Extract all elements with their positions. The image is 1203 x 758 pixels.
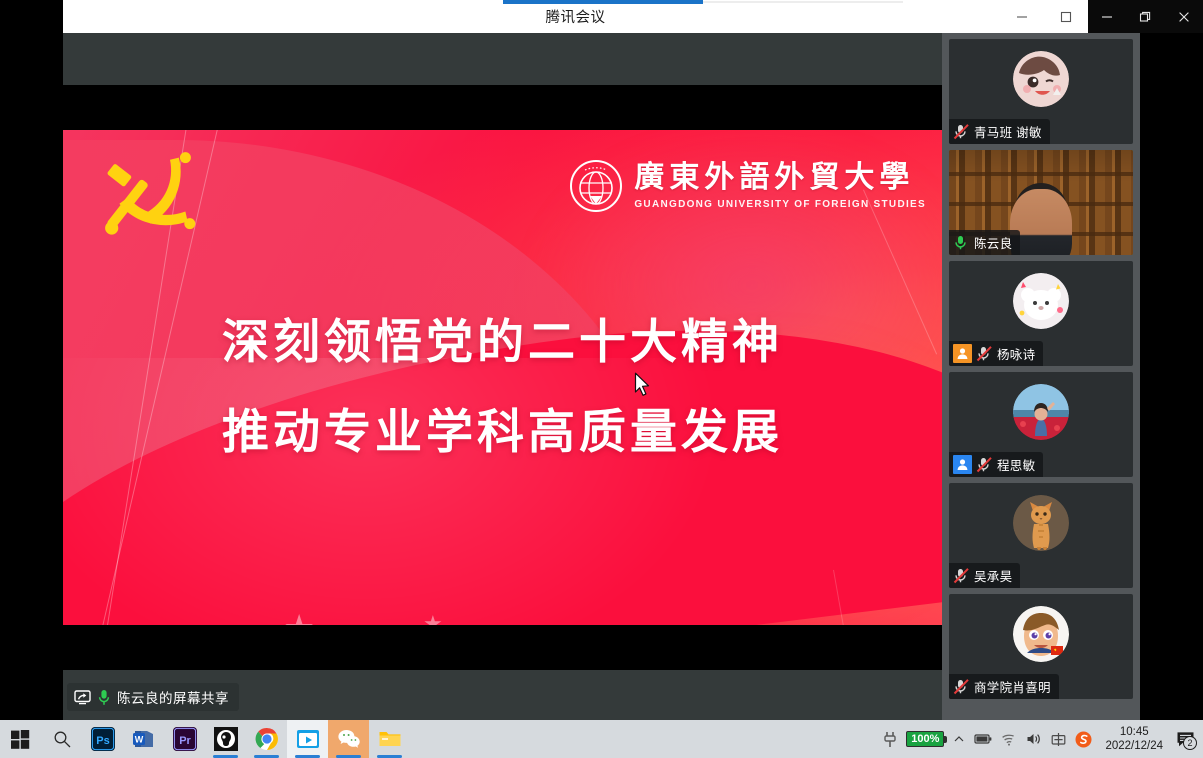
app-button[interactable] <box>205 720 246 758</box>
outer-minimize-button[interactable] <box>1091 6 1123 28</box>
clock[interactable]: 10:45 2022/12/24 <box>1101 725 1167 753</box>
slide-title: 深刻领悟党的二十大精神 推动专业学科高质量发展 <box>63 298 942 478</box>
wechat-icon <box>337 727 361 751</box>
participant-namebar: 杨咏诗 <box>949 341 1043 366</box>
outer-close-button[interactable] <box>1168 6 1200 28</box>
participant-name: 青马班 谢敏 <box>974 122 1042 141</box>
plug-icon[interactable] <box>883 731 897 748</box>
participant-tile[interactable]: 商学院肖喜明 <box>949 594 1133 699</box>
mouse-cursor <box>634 372 652 403</box>
host-badge <box>953 344 972 363</box>
app-title-bar[interactable]: 腾讯会议 <box>63 0 1088 33</box>
desktop-root: 腾讯会议 <box>0 0 1203 758</box>
inner-maximize-button[interactable] <box>1044 0 1088 33</box>
participant-name: 杨咏诗 <box>997 344 1035 363</box>
university-name-en: GUANGDONG UNIVERSITY OF FOREIGN STUDIES <box>634 199 926 210</box>
slide-title-line-1: 深刻领悟党的二十大精神 <box>63 298 942 388</box>
screen-share-icon <box>74 690 91 705</box>
notification-count: 2 <box>1183 736 1197 750</box>
microphone-muted-icon <box>976 456 993 473</box>
inner-window-controls <box>1000 0 1088 33</box>
slide-title-line-2: 推动专业学科高质量发展 <box>63 388 942 478</box>
battery-small-icon[interactable] <box>974 733 992 745</box>
svg-text:W: W <box>134 734 143 744</box>
ime-icon[interactable] <box>1051 732 1066 747</box>
microphone-on-icon <box>98 689 110 706</box>
svg-text:Pr: Pr <box>179 735 191 747</box>
microphone-muted-icon <box>953 567 970 584</box>
clock-date: 2022/12/24 <box>1105 739 1163 753</box>
sogou-icon[interactable] <box>1075 731 1092 748</box>
slide-star-2: ★ <box>423 613 443 625</box>
participant-tile[interactable]: 杨咏诗 <box>949 261 1133 366</box>
slide-star-1: ★ <box>283 610 315 625</box>
volume-icon[interactable] <box>1026 732 1042 746</box>
participant-tile[interactable]: 程思敏 <box>949 372 1133 477</box>
cartoon-boy-avatar <box>1013 606 1069 662</box>
movies-tv-button[interactable] <box>287 720 328 758</box>
university-name-cn: 廣東外語外貿大學 <box>634 163 926 193</box>
notification-center-button[interactable]: 2 <box>1176 730 1195 749</box>
participant-namebar: 程思敏 <box>949 452 1043 477</box>
photoshop-button[interactable]: Ps <box>82 720 123 758</box>
inner-minimize-button[interactable] <box>1000 0 1044 33</box>
presentation-slide: 廣東外語外貿大學 GUANGDONG UNIVERSITY OF FOREIGN… <box>63 130 942 625</box>
cohost-badge <box>953 455 972 474</box>
premiere-button[interactable]: Pr <box>164 720 205 758</box>
clock-time: 10:45 <box>1105 725 1163 739</box>
screen-share-label: 陈云良的屏幕共享 <box>117 687 229 707</box>
participant-namebar: 陈云良 <box>949 230 1020 255</box>
folder-icon <box>378 727 402 751</box>
app-icon <box>214 727 238 751</box>
participants-panel[interactable]: 青马班 谢敏 陈云良 <box>942 33 1140 720</box>
outer-window-controls <box>1088 0 1203 33</box>
participant-namebar: 商学院肖喜明 <box>949 674 1059 699</box>
movies-tv-icon <box>296 727 320 751</box>
word-button[interactable]: W <box>123 720 164 758</box>
word-icon: W <box>132 727 156 751</box>
screen-share-badge: 陈云良的屏幕共享 <box>67 683 239 711</box>
participant-name: 商学院肖喜明 <box>974 677 1051 696</box>
hammer-and-sickle-icon <box>93 140 203 250</box>
participant-tile[interactable]: 陈云良 <box>949 150 1133 255</box>
file-explorer-button[interactable] <box>369 720 410 758</box>
microphone-on-icon <box>953 234 970 251</box>
chrome-icon <box>255 727 279 751</box>
participant-namebar: 青马班 谢敏 <box>949 119 1050 144</box>
letterbox-top <box>63 85 942 130</box>
participant-name: 陈云良 <box>974 233 1012 252</box>
woman-flowers-avatar <box>1013 384 1069 440</box>
participant-tile[interactable]: 吴承昊 <box>949 483 1133 588</box>
university-logo: 廣東外語外貿大學 GUANGDONG UNIVERSITY OF FOREIGN… <box>568 158 926 214</box>
screen-share-stage: 廣東外語外貿大學 GUANGDONG UNIVERSITY OF FOREIGN… <box>63 33 942 720</box>
participant-tile[interactable]: 青马班 谢敏 <box>949 39 1133 144</box>
search-icon <box>53 730 71 748</box>
app-title: 腾讯会议 <box>63 0 1088 33</box>
orange-cat-avatar <box>1013 495 1069 551</box>
system-tray: 100% <box>883 720 1203 758</box>
chrome-button[interactable] <box>246 720 287 758</box>
microphone-muted-icon <box>976 345 993 362</box>
anime-girl-avatar <box>1013 51 1069 107</box>
participant-name: 吴承昊 <box>974 566 1012 585</box>
premiere-icon: Pr <box>173 727 197 751</box>
white-bear-avatar <box>1013 273 1069 329</box>
wechat-button[interactable] <box>328 720 369 758</box>
stage-top-bar <box>63 33 942 85</box>
microphone-muted-icon <box>953 123 970 140</box>
search-button[interactable] <box>41 720 82 758</box>
svg-text:Ps: Ps <box>96 735 109 747</box>
participant-name: 程思敏 <box>997 455 1035 474</box>
letterbox-bottom <box>63 625 942 670</box>
battery-percent-badge[interactable]: 100% <box>906 731 944 747</box>
microphone-muted-icon <box>953 678 970 695</box>
wifi-icon[interactable] <box>1001 733 1017 746</box>
globe-emblem-icon <box>568 158 624 214</box>
taskbar-apps: Ps W Pr <box>0 720 410 758</box>
participant-namebar: 吴承昊 <box>949 563 1020 588</box>
start-button[interactable] <box>0 720 41 758</box>
windows-taskbar: Ps W Pr <box>0 720 1203 758</box>
outer-restore-button[interactable] <box>1129 6 1161 28</box>
chevron-up-icon[interactable] <box>953 733 965 745</box>
photoshop-icon: Ps <box>91 727 115 751</box>
